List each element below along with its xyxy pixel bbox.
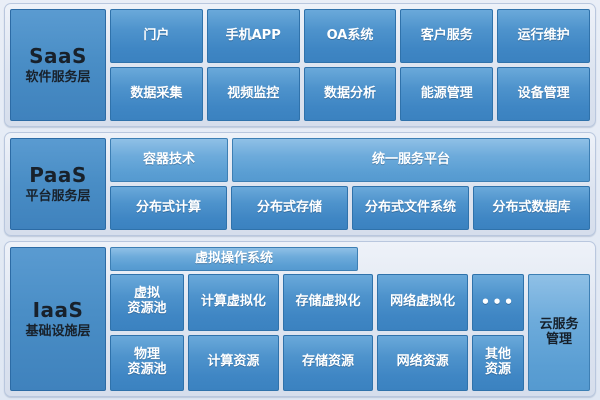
saas-cell-customer-service[interactable]: 客户服务 [400,9,493,63]
iaas-cell-cloud-service-management[interactable]: 云服务 管理 [528,274,590,391]
paas-cell-distributed-filesystem[interactable]: 分布式文件系统 [352,186,469,230]
layer-label-cn: 平台服务层 [25,190,90,203]
saas-cell-data-collection[interactable]: 数据采集 [110,67,203,121]
layer-label-cn: 软件服务层 [25,71,90,84]
paas-row-1: 容器技术 统一服务平台 [110,138,590,182]
saas-cell-device-mgmt[interactable]: 设备管理 [497,67,590,121]
saas-cell-video-monitor[interactable]: 视频监控 [207,67,300,121]
iaas-cell-other-resource[interactable]: 其他 资源 [472,335,524,392]
iaas-cell-virtual-os[interactable]: 虚拟操作系统 [110,247,358,271]
saas-cell-oa-system[interactable]: OA系统 [304,9,397,63]
layer-body-iaas: 虚拟操作系统 虚拟 资源池 计算虚拟化 存储虚拟化 网络虚拟化 ••• 物理 资… [110,247,590,391]
saas-row-1: 门户 手机APP OA系统 客户服务 运行维护 [110,9,590,63]
iaas-cell-network-virtualization[interactable]: 网络虚拟化 [377,274,468,331]
paas-cell-unified-service-platform[interactable]: 统一服务平台 [232,138,590,182]
layer-label-cn: 基础设施层 [25,325,90,338]
layer-label-paas: PaaS 平台服务层 [10,138,106,230]
iaas-cell-compute-resource[interactable]: 计算资源 [188,335,279,392]
iaas-cell-network-resource[interactable]: 网络资源 [377,335,468,392]
iaas-row-grid: 虚拟 资源池 计算虚拟化 存储虚拟化 网络虚拟化 ••• 物理 资源池 计算资源… [110,274,590,391]
iaas-row-virtualization: 虚拟 资源池 计算虚拟化 存储虚拟化 网络虚拟化 ••• [110,274,524,331]
iaas-cell-physical-resource-pool[interactable]: 物理 资源池 [110,335,184,392]
iaas-row-os: 虚拟操作系统 [110,247,590,271]
layer-saas: SaaS 软件服务层 门户 手机APP OA系统 客户服务 运行维护 数据采集 … [4,3,596,127]
iaas-cell-more-virtualization-ellipsis[interactable]: ••• [472,274,524,331]
paas-row-2: 分布式计算 分布式存储 分布式文件系统 分布式数据库 [110,186,590,230]
architecture-diagram: SaaS 软件服务层 门户 手机APP OA系统 客户服务 运行维护 数据采集 … [0,0,600,400]
iaas-cell-storage-resource[interactable]: 存储资源 [283,335,374,392]
paas-cell-container-tech[interactable]: 容器技术 [110,138,228,182]
iaas-row-resources: 物理 资源池 计算资源 存储资源 网络资源 其他 资源 [110,335,524,392]
saas-cell-energy-mgmt[interactable]: 能源管理 [400,67,493,121]
layer-body-paas: 容器技术 统一服务平台 分布式计算 分布式存储 分布式文件系统 分布式数据库 [110,138,590,230]
iaas-cell-virtual-resource-pool[interactable]: 虚拟 资源池 [110,274,184,331]
layer-label-en: IaaS [33,300,84,320]
paas-cell-distributed-database[interactable]: 分布式数据库 [473,186,590,230]
saas-row-2: 数据采集 视频监控 数据分析 能源管理 设备管理 [110,67,590,121]
layer-label-saas: SaaS 软件服务层 [10,9,106,121]
iaas-os-spacer [362,247,590,271]
saas-cell-data-analysis[interactable]: 数据分析 [304,67,397,121]
saas-cell-operations[interactable]: 运行维护 [497,9,590,63]
layer-paas: PaaS 平台服务层 容器技术 统一服务平台 分布式计算 分布式存储 分布式文件… [4,132,596,236]
saas-cell-mobile-app[interactable]: 手机APP [207,9,300,63]
paas-cell-distributed-storage[interactable]: 分布式存储 [231,186,348,230]
layer-label-en: SaaS [29,46,87,66]
layer-label-iaas: IaaS 基础设施层 [10,247,106,391]
layer-iaas: IaaS 基础设施层 虚拟操作系统 虚拟 资源池 计算虚拟化 存储虚拟化 网络虚… [4,241,596,397]
saas-cell-portal[interactable]: 门户 [110,9,203,63]
layer-body-saas: 门户 手机APP OA系统 客户服务 运行维护 数据采集 视频监控 数据分析 能… [110,9,590,121]
iaas-cell-compute-virtualization[interactable]: 计算虚拟化 [188,274,279,331]
iaas-cell-storage-virtualization[interactable]: 存储虚拟化 [283,274,374,331]
paas-cell-distributed-computing[interactable]: 分布式计算 [110,186,227,230]
iaas-resource-grid: 虚拟 资源池 计算虚拟化 存储虚拟化 网络虚拟化 ••• 物理 资源池 计算资源… [110,274,524,391]
layer-label-en: PaaS [29,165,87,185]
